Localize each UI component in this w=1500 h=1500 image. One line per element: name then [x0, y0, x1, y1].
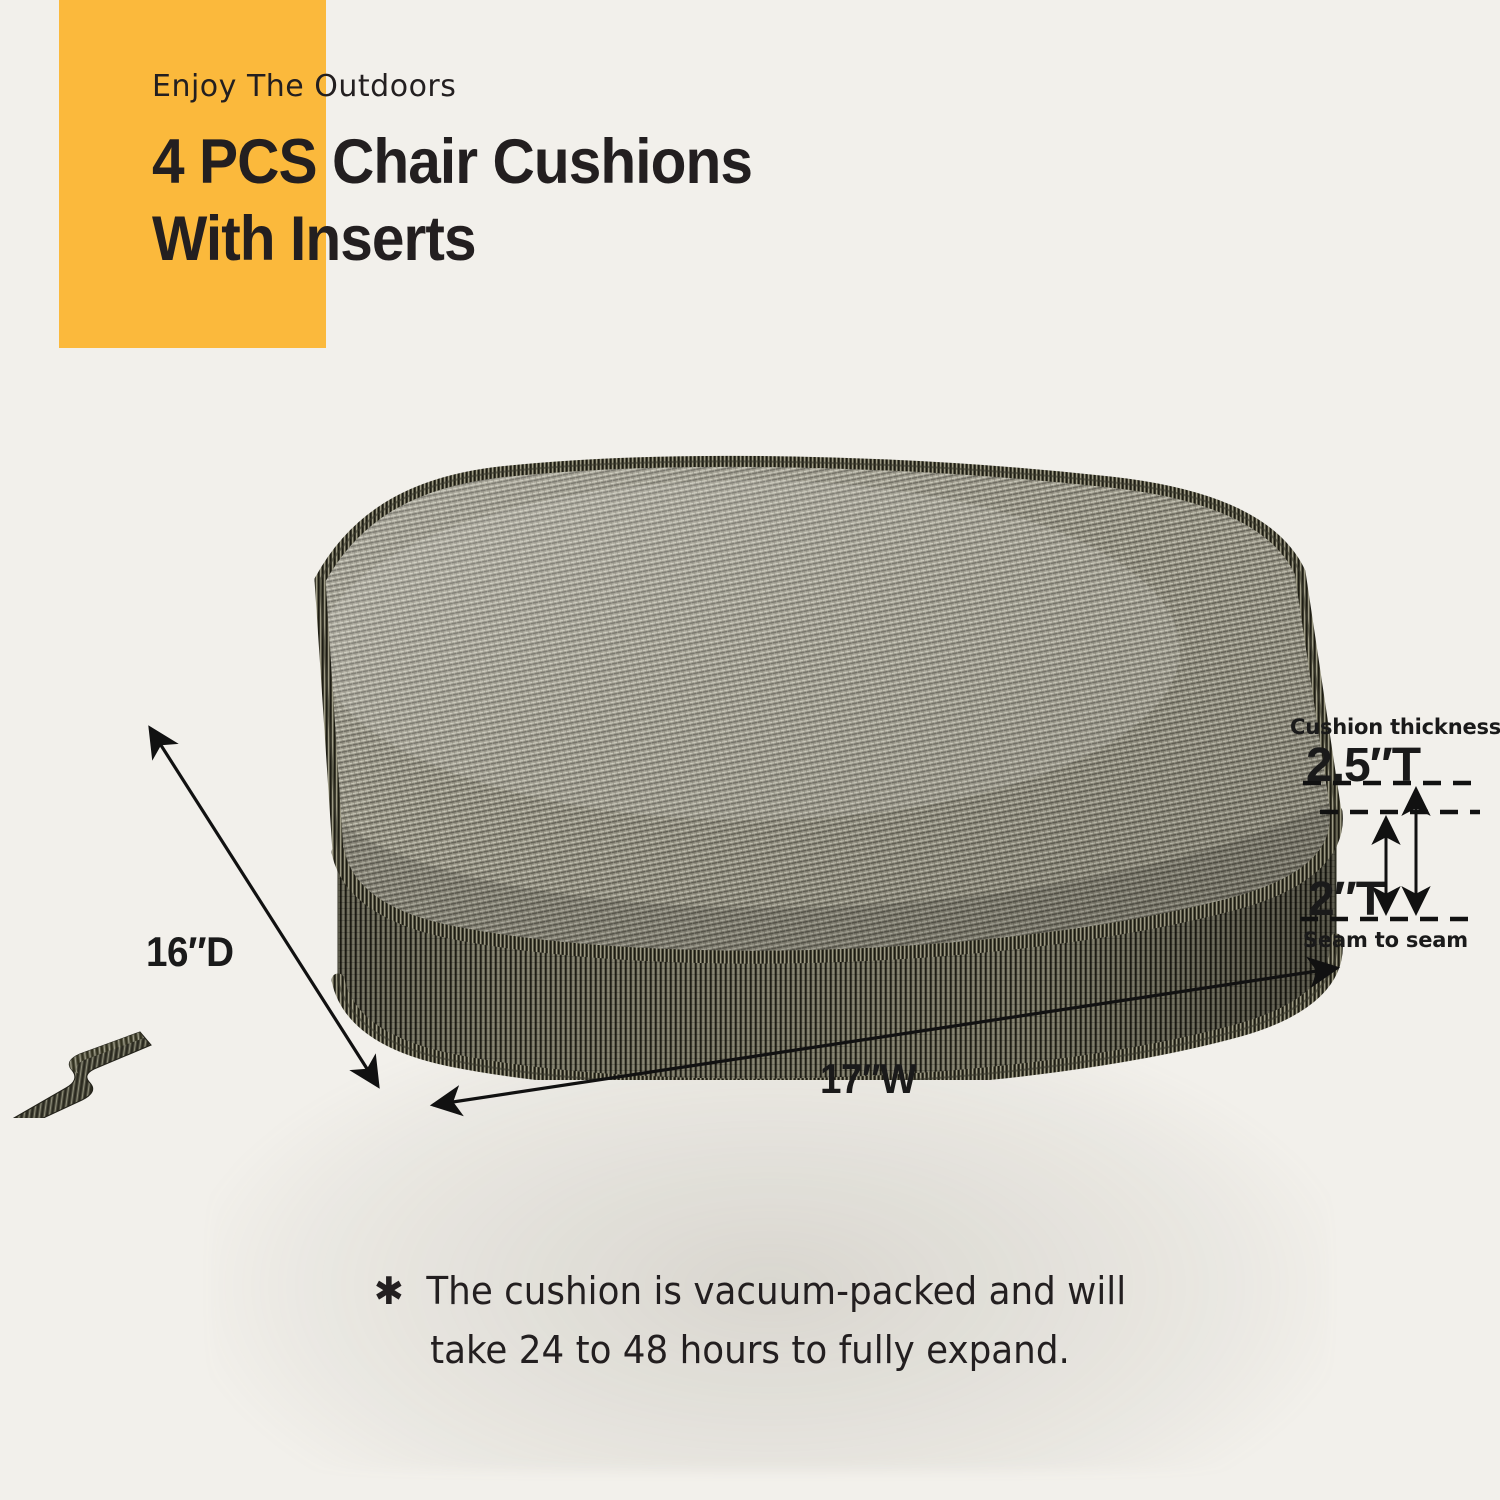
note-line-1: ✱The cushion is vacuum-packed and will: [45, 1262, 1455, 1321]
seam-to-seam-value: 2″T: [1308, 872, 1384, 927]
vacuum-pack-note: ✱The cushion is vacuum-packed and will t…: [45, 1262, 1455, 1380]
cushion-thickness-caption: Cushion thickness: [1290, 715, 1500, 739]
cushion-thickness-value: 2.5″T: [1306, 738, 1420, 793]
note-line-1-text: The cushion is vacuum-packed and will: [426, 1269, 1126, 1313]
asterisk-icon: ✱: [374, 1269, 404, 1313]
note-line-2: take 24 to 48 hours to fully expand.: [45, 1321, 1455, 1380]
product-infographic: Enjoy The Outdoors 4 PCS Chair Cushions …: [0, 0, 1500, 1500]
depth-dimension-label: 16″D: [146, 928, 234, 976]
seam-to-seam-caption: Seam to seam: [1303, 928, 1468, 952]
width-dimension-label: 17″W: [820, 1055, 916, 1103]
fabric-tie-strap: [8, 1026, 198, 1118]
